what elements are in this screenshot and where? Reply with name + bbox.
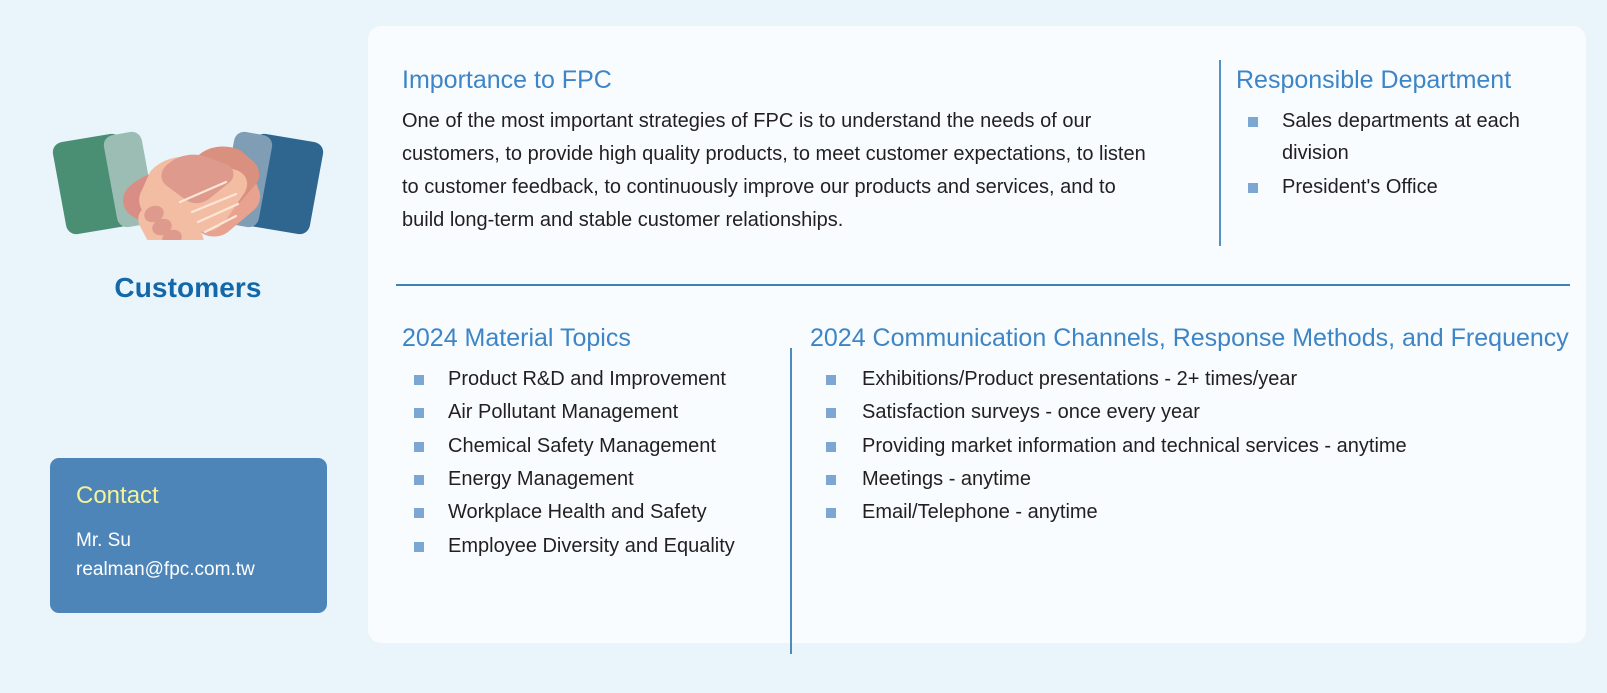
list-item: Satisfaction surveys - once every year [810,396,1550,428]
bullet-square-icon [414,475,424,485]
topics-heading: 2024 Material Topics [402,324,762,353]
handshake-icon [50,128,326,240]
topics-block: 2024 Material Topics Product R&D and Imp… [402,324,762,563]
bullet-square-icon [414,442,424,452]
list-item-label: Energy Management [448,468,634,490]
upper-section: Importance to FPC One of the most import… [368,26,1586,284]
list-item: Workplace Health and Safety [402,496,762,528]
list-item-label: Product R&D and Improvement [448,368,726,390]
bullet-square-icon [1248,183,1258,193]
contact-heading: Contact [76,484,327,508]
list-item-label: Workplace Health and Safety [448,501,707,523]
list-item-label: Air Pollutant Management [448,401,678,423]
list-item: Chemical Safety Management [402,430,762,462]
bullet-square-icon [826,508,836,518]
list-item-label: Providing market information and technic… [862,435,1407,457]
bullet-square-icon [826,442,836,452]
list-item-label: Satisfaction surveys - once every year [862,401,1200,423]
list-item-label: Employee Diversity and Equality [448,535,735,557]
list-item-label: Chemical Safety Management [448,435,716,457]
list-item: Meetings - anytime [810,463,1550,495]
contact-person-name: Mr. Su [76,526,327,555]
channels-block: 2024 Communication Channels, Response Me… [810,324,1550,530]
bullet-square-icon [414,508,424,518]
list-item: Employee Diversity and Equality [402,530,762,562]
divider-vertical-bottom [790,348,792,654]
list-item: Exhibitions/Product presentations - 2+ t… [810,363,1550,395]
topics-list: Product R&D and Improvement Air Pollutan… [402,363,762,562]
list-item-label: Email/Telephone - anytime [862,501,1098,523]
bullet-square-icon [414,375,424,385]
content-card: Importance to FPC One of the most import… [368,26,1586,643]
importance-body: One of the most important strategies of … [402,105,1162,237]
list-item-label: Meetings - anytime [862,468,1031,490]
importance-heading: Importance to FPC [402,66,1162,95]
list-item: Product R&D and Improvement [402,363,762,395]
bullet-square-icon [1248,117,1258,127]
divider-vertical-top [1219,60,1221,246]
stakeholder-left-column: Customers Contact Mr. Su realman@fpc.com… [0,0,368,693]
bullet-square-icon [826,475,836,485]
bullet-square-icon [414,408,424,418]
channels-list: Exhibitions/Product presentations - 2+ t… [810,363,1550,529]
list-item-label: Sales departments at each division [1282,110,1520,164]
list-item: Sales departments at each division [1236,105,1556,170]
department-heading: Responsible Department [1236,66,1556,95]
list-item: Air Pollutant Management [402,396,762,428]
bullet-square-icon [826,408,836,418]
department-block: Responsible Department Sales departments… [1236,66,1556,204]
list-item-label: Exhibitions/Product presentations - 2+ t… [862,368,1297,390]
list-item: Email/Telephone - anytime [810,496,1550,528]
list-item: President's Office [1236,171,1556,203]
bullet-square-icon [826,375,836,385]
page-title: Customers [0,272,376,304]
list-item: Providing market information and technic… [810,430,1550,462]
list-item-label: President's Office [1282,176,1438,198]
lower-section: 2024 Material Topics Product R&D and Imp… [368,286,1586,643]
channels-heading: 2024 Communication Channels, Response Me… [810,324,1550,353]
importance-block: Importance to FPC One of the most import… [402,66,1162,237]
contact-card: Contact Mr. Su realman@fpc.com.tw [50,458,327,613]
department-list: Sales departments at each division Presi… [1236,105,1556,203]
contact-email[interactable]: realman@fpc.com.tw [76,555,327,584]
list-item: Energy Management [402,463,762,495]
bullet-square-icon [414,542,424,552]
